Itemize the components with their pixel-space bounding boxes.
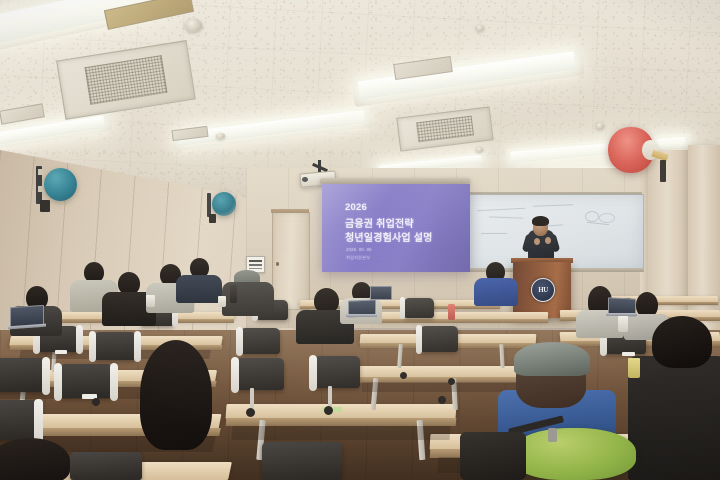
chair-frame bbox=[400, 297, 405, 319]
drink-cup bbox=[146, 295, 155, 307]
classroom-door[interactable] bbox=[272, 212, 310, 310]
chair-caster bbox=[92, 398, 100, 406]
chair[interactable] bbox=[420, 326, 458, 352]
chair-frame bbox=[89, 331, 96, 362]
attendee-black-jacket bbox=[628, 356, 720, 480]
green-tote-bag bbox=[512, 428, 636, 480]
smoke-detector-icon bbox=[476, 147, 483, 152]
door-knob[interactable] bbox=[276, 262, 279, 266]
chair-frame bbox=[309, 355, 317, 391]
chair[interactable] bbox=[94, 332, 136, 360]
smoke-detector-icon bbox=[476, 25, 484, 31]
chair-post bbox=[328, 386, 332, 408]
laptop-base bbox=[346, 314, 377, 317]
drink-cup bbox=[618, 316, 628, 332]
projector-lens bbox=[302, 177, 308, 182]
chair[interactable] bbox=[314, 356, 360, 388]
chair-frame bbox=[231, 357, 239, 393]
drink-cup bbox=[218, 296, 226, 307]
chair-label bbox=[55, 350, 67, 354]
projection-screen: 2026 금융권 취업전략 청년일경험사업 설명 2026. 00. 00 취업… bbox=[322, 184, 470, 272]
chair-label bbox=[622, 352, 635, 356]
water-bottle bbox=[448, 304, 455, 320]
laptop[interactable] bbox=[370, 286, 392, 300]
university-emblem-icon: HU bbox=[531, 278, 555, 302]
chair[interactable] bbox=[0, 358, 46, 392]
chair[interactable] bbox=[60, 364, 112, 398]
water-bottle bbox=[230, 285, 237, 303]
chair-frame bbox=[416, 325, 422, 354]
fan-control-box[interactable] bbox=[209, 214, 216, 223]
bag-clasp bbox=[548, 428, 557, 442]
presenter-hair bbox=[532, 216, 549, 226]
smoke-detector-icon bbox=[596, 123, 604, 129]
smoke-detector-icon bbox=[185, 19, 202, 32]
fan-control-box[interactable] bbox=[40, 200, 50, 212]
chair-post bbox=[250, 388, 254, 410]
slide-line-2: 청년일경험사업 설명 bbox=[345, 229, 433, 244]
chair-frame bbox=[76, 325, 83, 354]
presenter-hand bbox=[534, 238, 540, 245]
slide-subtext-1: 2026. 00. 00 bbox=[346, 247, 372, 252]
chair-frame bbox=[54, 363, 62, 401]
attendee-gray-cap-icon bbox=[514, 342, 590, 376]
chair[interactable] bbox=[240, 328, 280, 354]
slide-year: 2026 bbox=[345, 202, 367, 213]
emblem-text: HU bbox=[538, 286, 548, 294]
chair-frame bbox=[134, 331, 141, 362]
chair[interactable] bbox=[236, 358, 284, 390]
drink-cup bbox=[628, 358, 640, 378]
door-header bbox=[271, 209, 309, 213]
chair[interactable] bbox=[0, 400, 38, 440]
chair-caster bbox=[246, 408, 255, 417]
chair-caster bbox=[400, 372, 407, 379]
fan-control-box[interactable] bbox=[660, 160, 666, 182]
chair-frame bbox=[42, 357, 50, 395]
fan-mount-bracket bbox=[38, 169, 43, 175]
fan-mount-bracket bbox=[38, 186, 43, 192]
presenter-hand bbox=[545, 237, 551, 244]
ceiling bbox=[0, 0, 720, 196]
chair[interactable] bbox=[404, 298, 434, 318]
slide-subtext-2: 취업지원본부 bbox=[346, 255, 370, 261]
chair-caster bbox=[324, 406, 333, 415]
attendee-blue-shirt bbox=[474, 278, 518, 306]
slide-line-1: 금융권 취업전략 bbox=[345, 215, 414, 230]
smoke-detector-icon bbox=[216, 133, 225, 139]
wall-fan-blue-icon bbox=[44, 168, 77, 201]
wall-fan-blue-icon bbox=[212, 192, 236, 216]
chair[interactable] bbox=[262, 442, 342, 480]
chair-caster bbox=[438, 396, 446, 404]
chair-caster bbox=[448, 378, 455, 385]
chair-frame bbox=[110, 363, 118, 401]
desk-understructure bbox=[232, 426, 451, 440]
black-backpack bbox=[460, 432, 526, 480]
attendee-long-hair-center bbox=[140, 340, 212, 450]
chair-frame bbox=[236, 327, 243, 356]
desk-edge bbox=[378, 319, 548, 323]
lecture-hall-photo: 2026 금융권 취업전략 청년일경험사업 설명 2026. 00. 00 취업… bbox=[0, 0, 720, 480]
chair-frame bbox=[34, 399, 43, 443]
attendee-head bbox=[652, 316, 712, 368]
attendee-navy-jacket bbox=[176, 275, 222, 303]
